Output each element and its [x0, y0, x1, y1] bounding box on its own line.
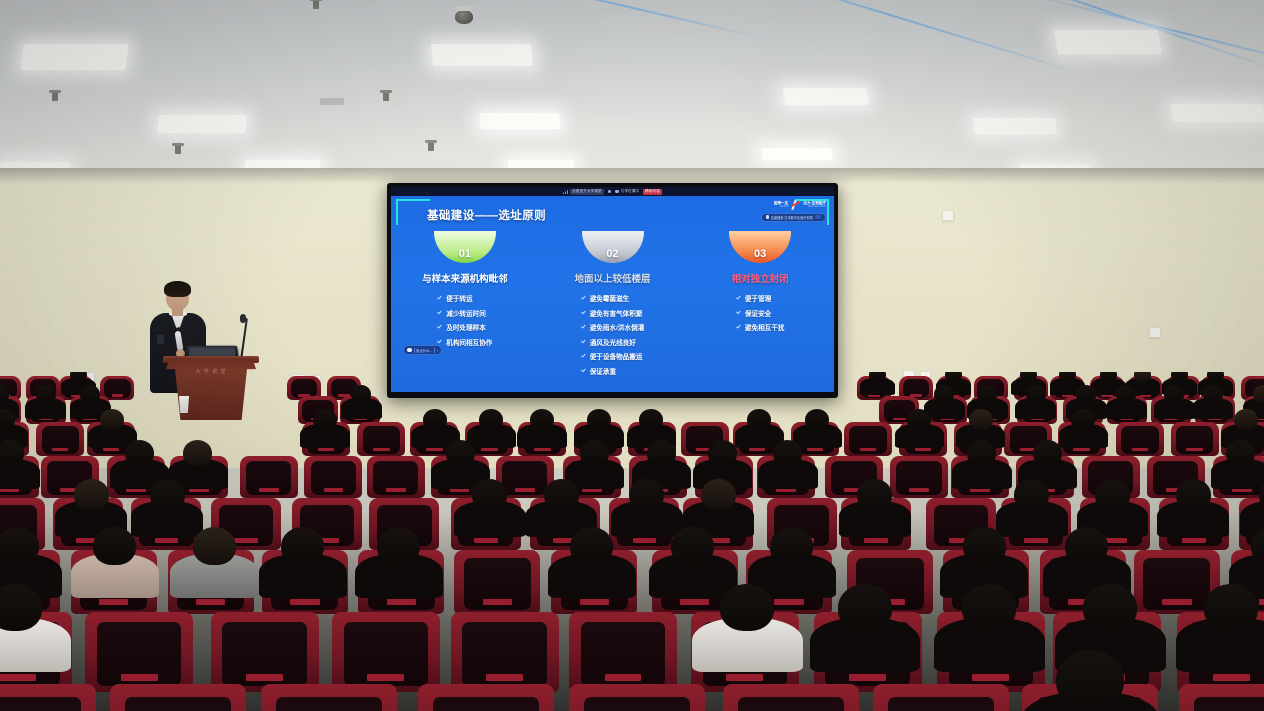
- comment-widget-label: 说点什么...: [416, 348, 432, 353]
- ceiling-light-panel: [479, 113, 560, 129]
- lecture-hall-photo: 百度官方大学课堂 凡学在课中 精彩内容 基础建设——选址原则: [0, 0, 1264, 711]
- seat-label: [155, 538, 179, 543]
- seat[interactable]: [454, 550, 540, 614]
- audience-member-head: [962, 584, 1016, 631]
- seat-cushion: [888, 697, 994, 711]
- presenter-hair: [164, 281, 191, 297]
- audience-member-head: [377, 527, 420, 565]
- list-item: 减少转运时间: [437, 308, 492, 318]
- audience-member-head: [1083, 584, 1137, 631]
- seat-label: [112, 394, 124, 396]
- audience-seating: [0, 372, 1264, 711]
- seat-label: [605, 674, 642, 681]
- column-heading: 地面以上较低楼层: [575, 271, 651, 285]
- seat-label: [582, 488, 602, 492]
- list-item-label: 通风及光线良好: [590, 337, 636, 347]
- seat-label: [909, 488, 929, 492]
- audience-member-head: [93, 527, 136, 565]
- microphone-icon: [766, 215, 769, 219]
- audience-member-head: [0, 527, 39, 565]
- led-display-screen[interactable]: 百度官方大学课堂 凡学在课中 精彩内容 基础建设——选址原则: [387, 183, 838, 398]
- ceiling-vent: [320, 98, 345, 105]
- check-icon: [581, 296, 586, 301]
- seat[interactable]: [1116, 422, 1164, 456]
- audience-member-head: [708, 440, 737, 466]
- seat[interactable]: [332, 612, 440, 692]
- seat[interactable]: [367, 456, 425, 498]
- audience-member-head: [183, 440, 212, 466]
- slide-title: 基础建设——选址原则: [427, 207, 546, 223]
- seat-label: [970, 488, 990, 492]
- list-item-label: 减少转运时间: [446, 308, 486, 318]
- ceiling-light-panel: [1171, 104, 1264, 122]
- accent-bar-left: [396, 199, 398, 225]
- audience-member-head: [1204, 584, 1258, 631]
- seat[interactable]: [844, 422, 892, 456]
- audience-member-head: [671, 527, 714, 565]
- list-item: 避免雨水/洪水倒灌: [581, 322, 645, 332]
- audience-member-head: [1226, 440, 1255, 466]
- check-icon: [581, 354, 586, 359]
- seat-label: [474, 538, 498, 543]
- ceiling-light-panel: [973, 118, 1057, 134]
- screen-surface: 百度官方大学课堂 凡学在课中 精彩内容 基础建设——选址原则: [391, 187, 834, 392]
- column-item-list: 便于管理 保证安全 避免相互干扰: [736, 293, 785, 332]
- audience-member-head: [1095, 479, 1130, 510]
- accent-bar-right: [827, 199, 829, 225]
- seat-label: [103, 448, 119, 451]
- seat-label: [0, 674, 36, 681]
- seat-label: [864, 538, 888, 543]
- seat-label: [324, 488, 344, 492]
- slide-topbar: 百度官方大学课堂 凡学在课中 精彩内容: [391, 187, 834, 196]
- audience-member-head: [647, 440, 676, 466]
- logo-secondary-en: Palm Biomedical: [803, 206, 826, 209]
- audience-member-head: [74, 479, 109, 510]
- seat[interactable]: [418, 684, 554, 711]
- column-item-list: 便于转运 减少转运时间 及时处理样本 机构间相互协作: [437, 293, 492, 347]
- sprinkler-head-icon: [383, 92, 389, 101]
- list-item: 避免相互干扰: [736, 322, 785, 332]
- wall-switch-plate: [942, 210, 954, 221]
- seat[interactable]: [569, 612, 677, 692]
- seat[interactable]: [569, 684, 705, 711]
- seat-label: [774, 599, 803, 605]
- audience-member-head: [1164, 385, 1184, 403]
- audience-member-head: [423, 409, 447, 430]
- seat-label: [1213, 674, 1250, 681]
- seat-label: [367, 674, 404, 681]
- topbar-chip-course[interactable]: 百度官方大学课堂: [563, 189, 604, 195]
- seat-label: [849, 674, 886, 681]
- seat-label: [1073, 448, 1089, 451]
- ceiling-light-panel: [783, 88, 869, 105]
- seat-label: [126, 488, 146, 492]
- list-item-label: 避免有害气体积聚: [590, 308, 643, 318]
- seat[interactable]: [211, 612, 319, 692]
- search-bar-text: 百度搜索 日本数字化医疗机构: [771, 215, 813, 220]
- list-item: 通风及光线良好: [581, 337, 645, 347]
- divider: [434, 348, 435, 353]
- seat-label: [807, 448, 823, 451]
- presenter-badge: [157, 335, 164, 344]
- list-item-label: 及时处理样本: [446, 322, 486, 332]
- seat[interactable]: [723, 684, 859, 711]
- audience-member-head: [1014, 479, 1049, 510]
- audience-member-head: [281, 527, 324, 565]
- audience-member-head: [969, 409, 993, 430]
- audience-member-head: [1071, 409, 1095, 430]
- list-item: 机构间相互协作: [437, 337, 492, 347]
- ceiling-light-panel: [431, 44, 533, 66]
- column-number-disc: 03: [729, 231, 791, 263]
- column-heading: 与样本来源机构毗邻: [422, 271, 508, 285]
- audience-member-head: [629, 479, 664, 510]
- list-item-label: 避免相互干扰: [745, 322, 785, 332]
- seat-label: [259, 488, 279, 492]
- seat-label: [246, 674, 283, 681]
- check-icon: [437, 310, 442, 315]
- list-item-label: 便于转运: [446, 293, 472, 303]
- audience-member-head: [446, 440, 475, 466]
- list-item: 便于设备物品搬运: [581, 351, 645, 361]
- list-item: 便于转运: [437, 293, 492, 303]
- compass-icon: [615, 190, 619, 194]
- list-item: 及时处理样本: [437, 322, 492, 332]
- accent-bar-top-left: [396, 199, 430, 201]
- seat-cushion: [1194, 697, 1264, 711]
- audience-member-head: [1020, 372, 1037, 382]
- seat-label: [749, 448, 765, 451]
- audience-member-head: [150, 479, 185, 510]
- dome-camera-icon: [455, 10, 473, 24]
- audience-member-head: [479, 409, 503, 430]
- audience-member-head: [945, 372, 962, 382]
- seat[interactable]: [873, 684, 1009, 711]
- audience-member-head: [1056, 650, 1124, 708]
- sprinkler-head-icon: [428, 142, 434, 151]
- seat-label: [1024, 538, 1048, 543]
- seat-label: [450, 488, 470, 492]
- check-icon: [437, 325, 442, 330]
- presentation-slide: 百度官方大学课堂 凡学在课中 精彩内容 基础建设——选址原则: [391, 187, 834, 392]
- list-item-label: 便于管理: [745, 293, 771, 303]
- check-icon: [581, 310, 586, 315]
- audience-member-head: [963, 527, 1006, 565]
- audience-member-head: [857, 479, 892, 510]
- topbar-chip-label: 精彩内容: [643, 189, 662, 195]
- column-number-disc: 01: [434, 231, 496, 263]
- seat[interactable]: [85, 612, 193, 692]
- audience-member-head: [838, 584, 892, 631]
- audience-member-head: [70, 372, 87, 382]
- seat[interactable]: [304, 456, 362, 498]
- seat-label: [386, 488, 406, 492]
- seat-label: [915, 448, 931, 451]
- audience-member-head: [0, 440, 24, 466]
- seat-cushion: [0, 697, 81, 711]
- seat[interactable]: [357, 422, 405, 456]
- seat-label: [387, 599, 416, 605]
- seat[interactable]: [451, 612, 559, 692]
- list-item-label: 机构间相互协作: [446, 337, 492, 347]
- ceiling-light-panel: [1054, 30, 1162, 54]
- seat-label: [483, 599, 512, 605]
- slide-column-3: 03 相对独立封闭 便于管理 保证安全 避免相互干扰: [686, 231, 834, 376]
- seat-label: [121, 674, 158, 681]
- column-heading: 相对独立封闭: [732, 271, 789, 285]
- audience-member-head: [1234, 409, 1258, 430]
- cloud-icon: [608, 190, 612, 194]
- audience-member-head: [1065, 527, 1108, 565]
- audience-member-head: [100, 409, 124, 430]
- seat-label: [290, 599, 319, 605]
- seat[interactable]: [240, 456, 298, 498]
- seat-label: [534, 448, 550, 451]
- seat[interactable]: [890, 456, 948, 498]
- column-number: 03: [754, 248, 766, 260]
- seat-label: [373, 448, 389, 451]
- check-icon: [581, 339, 586, 344]
- check-icon: [437, 339, 442, 344]
- audience-member-head: [1171, 372, 1188, 382]
- audience-member-head: [1253, 385, 1264, 403]
- seat-cushion: [433, 697, 539, 711]
- comment-widget[interactable]: 说点什么... ‹: [403, 345, 442, 355]
- search-bar-action[interactable]: [815, 215, 821, 219]
- audience-member-head: [80, 385, 100, 403]
- seat[interactable]: [1171, 422, 1219, 456]
- wall-ceiling-shadow: [0, 168, 1264, 184]
- audience-member-head: [351, 385, 371, 403]
- seat-label: [234, 538, 258, 543]
- seat-label: [515, 488, 535, 492]
- seat[interactable]: [261, 684, 397, 711]
- seat-label: [481, 448, 497, 451]
- column-number-disc: 02: [582, 231, 644, 263]
- audience-member-head: [701, 479, 736, 510]
- seat-cushion: [125, 697, 231, 711]
- sprinkler-head-icon: [175, 145, 181, 154]
- audience-member-head: [907, 409, 931, 430]
- seat-cushion: [584, 697, 690, 711]
- topbar-chip-label: 凡学在课中: [621, 189, 639, 194]
- seat-cushion: [276, 697, 382, 711]
- seat-label: [196, 599, 225, 605]
- list-item-label: 便于设备物品搬运: [590, 351, 643, 361]
- seat-label: [318, 448, 334, 451]
- audience-member-head: [36, 385, 56, 403]
- audience-member-head: [125, 440, 154, 466]
- ceiling-rail: [474, 0, 767, 40]
- audience-member-head: [193, 527, 236, 565]
- audience-member-head: [1026, 385, 1046, 403]
- check-icon: [736, 310, 741, 315]
- column-item-list: 避免霉菌滋生 避免有害气体积聚 避免雨水/洪水倒灌 通风及光线良好 便于设备物品…: [581, 293, 645, 376]
- list-item-label: 保证安全: [745, 308, 771, 318]
- audience-member-head: [1100, 372, 1117, 382]
- seat[interactable]: [0, 684, 96, 711]
- ceiling-rail: [689, 0, 1091, 77]
- audience-member-head: [570, 527, 613, 565]
- topbar-chip-brand[interactable]: 凡学在课中: [615, 189, 639, 194]
- seat-label: [633, 538, 657, 543]
- audience-member-head: [720, 584, 774, 631]
- seat-label: [0, 488, 19, 492]
- logo-primary-en: Medical: [774, 206, 788, 209]
- divider: [414, 348, 415, 353]
- check-icon: [736, 296, 741, 301]
- seat-label: [860, 448, 876, 451]
- seat-label: [1259, 599, 1264, 605]
- seat[interactable]: [110, 684, 246, 711]
- chevron-left-icon[interactable]: ‹: [437, 348, 438, 353]
- column-number: 02: [606, 248, 618, 260]
- seat-cushion: [738, 697, 844, 711]
- microphone-icon: [240, 314, 246, 323]
- audience-member-head: [313, 409, 337, 430]
- seat-label: [680, 599, 709, 605]
- seat-label: [726, 674, 763, 681]
- audience-member-head: [977, 385, 997, 403]
- seat-label: [893, 418, 907, 421]
- audience-member-head: [967, 440, 996, 466]
- seat-label: [189, 488, 209, 492]
- topbar-chip-label: 百度官方大学课堂: [570, 189, 604, 195]
- column-number: 01: [459, 248, 471, 260]
- audience-member-head: [472, 479, 507, 510]
- audience-member-head: [805, 409, 829, 430]
- seat-label: [99, 599, 128, 605]
- seat[interactable]: [36, 422, 84, 456]
- topbar-chip-highlight[interactable]: 精彩内容: [643, 189, 662, 195]
- slide-column-2: 02 地面以上较低楼层 避免霉菌滋生 避免有害气体积聚 避免雨水/洪水倒灌 通风…: [539, 231, 687, 376]
- seat-label: [1232, 488, 1252, 492]
- check-icon: [581, 325, 586, 330]
- sprinkler-head-icon: [52, 92, 58, 101]
- audience-member-head: [770, 527, 813, 565]
- audience-member-head: [587, 409, 611, 430]
- list-item: 避免有害气体积聚: [581, 308, 645, 318]
- check-icon: [437, 296, 442, 301]
- seat-label: [52, 448, 68, 451]
- seat-label: [972, 674, 1009, 681]
- audience-member-head: [934, 385, 954, 403]
- audience-member-head: [1033, 440, 1062, 466]
- seat-label: [1186, 448, 1202, 451]
- ceiling-light-panel: [761, 148, 832, 160]
- audience-member-head: [1059, 372, 1076, 382]
- audience-member-head: [530, 409, 554, 430]
- list-item-label: 避免霉菌滋生: [590, 293, 630, 303]
- ceiling-light-panel: [20, 44, 128, 70]
- brand-logo: 医荣一生 Medical 达大·生物医疗 Palm Biomedical 百度搜…: [761, 200, 826, 222]
- check-icon: [736, 325, 741, 330]
- audience-member-head: [1116, 385, 1136, 403]
- list-item: 便于管理: [736, 293, 785, 303]
- record-dot-icon: [407, 348, 412, 353]
- audience-member-head: [580, 440, 609, 466]
- list-item-label: 避免雨水/洪水倒灌: [590, 322, 645, 332]
- seat-label: [1182, 538, 1206, 543]
- slide-search-bar[interactable]: 百度搜索 日本数字化医疗机构: [761, 213, 826, 222]
- seat-label: [1162, 599, 1191, 605]
- seat-label: [580, 599, 609, 605]
- audience-member-head: [1176, 479, 1211, 510]
- audience-member-head: [1203, 385, 1223, 403]
- audience-member-head: [544, 479, 579, 510]
- audience-member-head: [747, 409, 771, 430]
- seat[interactable]: [1179, 684, 1264, 711]
- ceiling-light-panel: [157, 115, 247, 133]
- seat-label: [426, 448, 442, 451]
- signal-bars-icon: [563, 190, 568, 194]
- audience-member-head: [639, 409, 663, 430]
- seat-label: [1132, 448, 1148, 451]
- wall-switch-plate: [1149, 327, 1161, 338]
- seat-label: [776, 488, 796, 492]
- logo-mark-icon: [790, 200, 801, 210]
- ceiling: [0, 0, 1264, 176]
- slide-columns: 01 与样本来源机构毗邻 便于转运 减少转运时间 及时处理样本 机构间相互协作 …: [391, 231, 834, 376]
- audience-member-head: [1076, 385, 1096, 403]
- audience-member-head: [773, 440, 802, 466]
- list-item: 保证安全: [736, 308, 785, 318]
- list-item: 避免霉菌滋生: [581, 293, 645, 303]
- sprinkler-head-icon: [313, 0, 319, 9]
- seat-label: [486, 674, 523, 681]
